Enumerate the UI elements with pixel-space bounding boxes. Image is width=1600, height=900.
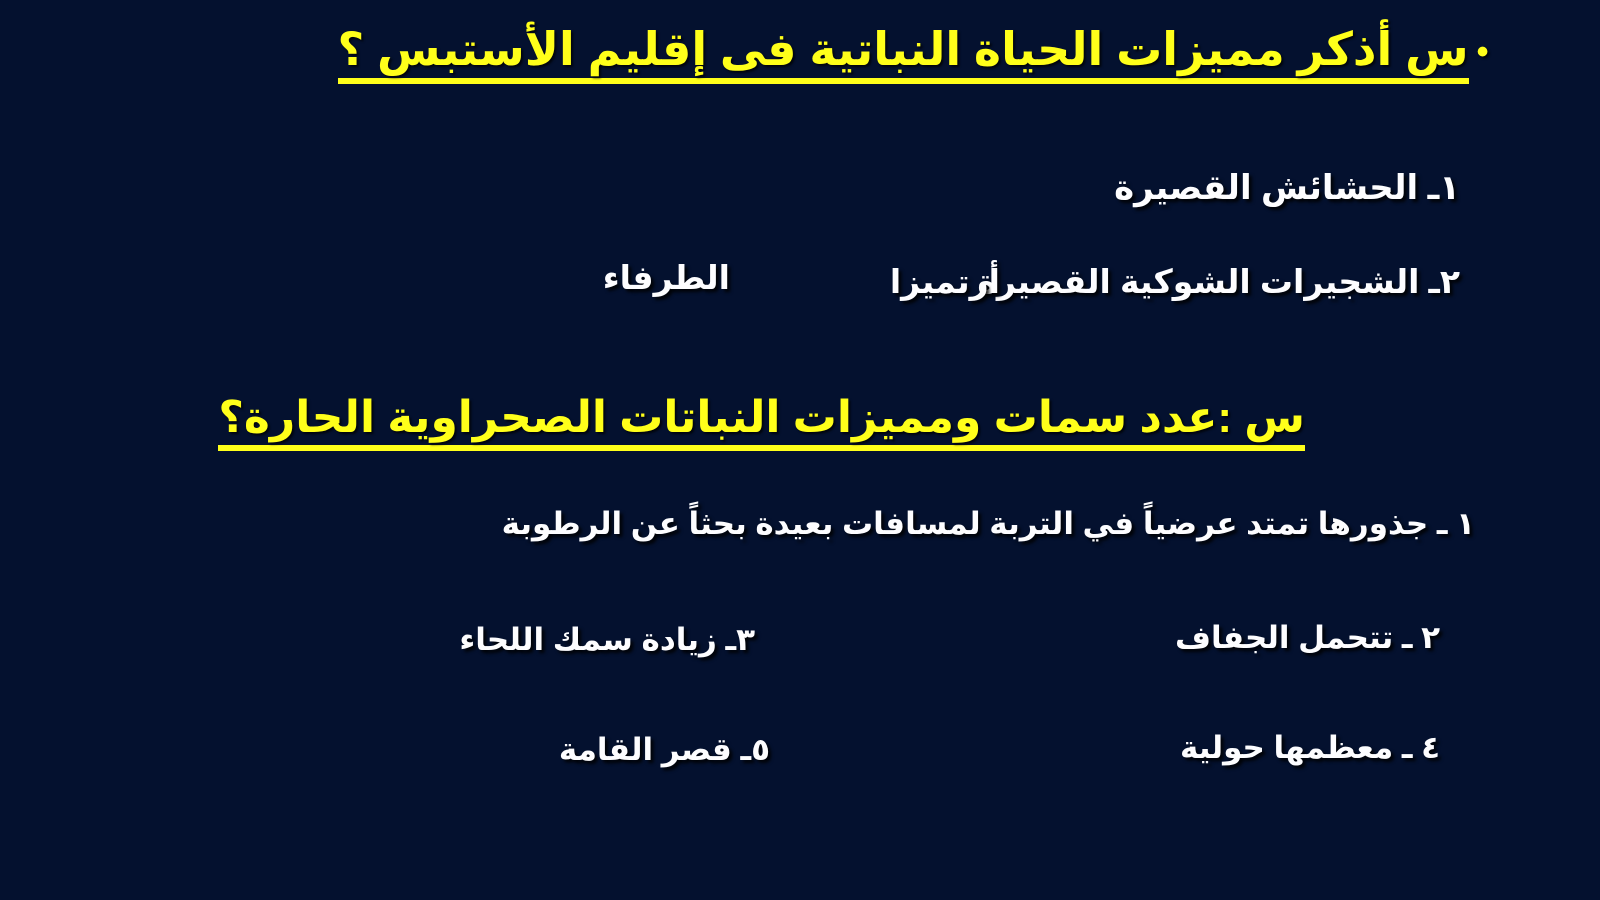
question-1-text: س أذكر مميزات الحياة النباتية فى إقليم ا… <box>338 22 1469 84</box>
answer-2-4: ٤ ـ معظمها حولية <box>1180 730 1440 766</box>
answer-1-1: ١ـ الحشائش القصيرة <box>1114 168 1460 208</box>
plant-example-tamarisk: الطرفاء <box>603 258 730 297</box>
plant-example-artemisia: أرتميزا <box>890 262 1000 301</box>
presentation-slide: •س أذكر مميزات الحياة النباتية فى إقليم … <box>0 0 1600 900</box>
answer-2-2: ٢ ـ تتحمل الجفاف <box>1175 620 1440 656</box>
question-2-heading: س :عدد سمات ومميزات النباتات الصحراوية ا… <box>218 392 1305 451</box>
question-1-heading: •س أذكر مميزات الحياة النباتية فى إقليم … <box>300 22 1530 84</box>
answer-2-3: ٣ـ زيادة سمك اللحاء <box>459 622 755 658</box>
answer-2-5: ٥ـ قصر القامة <box>559 732 770 768</box>
bullet-icon: • <box>1477 33 1489 72</box>
answer-2-1: ١ ـ جذورها تمتد عرضياً في التربة لمسافات… <box>502 506 1475 542</box>
question-2-text: س :عدد سمات ومميزات النباتات الصحراوية ا… <box>218 392 1305 451</box>
answer-1-2: ٢ـ الشجيرات الشوكية القصيرة <box>977 262 1460 301</box>
